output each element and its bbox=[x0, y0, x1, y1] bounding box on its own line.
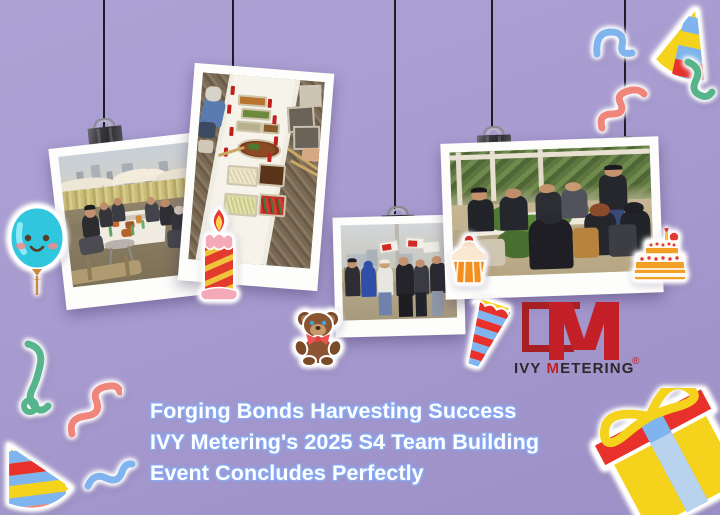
streamer-blue-top bbox=[591, 22, 641, 64]
birthday-cake-sticker bbox=[627, 228, 693, 290]
candle-sticker bbox=[196, 206, 242, 304]
teddy-bear-sticker bbox=[293, 306, 343, 366]
party-popper-sticker bbox=[452, 300, 510, 370]
hanging-string bbox=[491, 0, 493, 128]
hanging-string bbox=[394, 0, 396, 214]
party-hat-bottom bbox=[0, 438, 76, 515]
logo-wordmark: IVY METERING bbox=[514, 360, 634, 377]
title-line-1: Forging Bonds Harvesting Success bbox=[150, 396, 610, 427]
logo-m-mark bbox=[549, 302, 619, 360]
logo-word-m: M bbox=[546, 360, 560, 377]
logo-word-etering: ETERING bbox=[560, 360, 634, 377]
logo-word-ivy: IVY bbox=[514, 360, 546, 377]
streamer-coral-left bbox=[64, 368, 122, 440]
registered-trademark-icon: ® bbox=[632, 356, 639, 367]
cupcake-sticker bbox=[446, 233, 492, 285]
poster-title: Forging Bonds Harvesting Success IVY Met… bbox=[150, 396, 610, 489]
hanging-string bbox=[103, 0, 105, 128]
streamer-coral-top bbox=[596, 82, 648, 134]
streamer-green-left bbox=[14, 340, 58, 426]
streamer-green-right bbox=[678, 58, 718, 108]
balloon-sticker bbox=[6, 205, 68, 297]
title-line-3: Event Concludes Perfectly bbox=[150, 458, 610, 489]
poster-canvas: IVY METERING ® Forging Bonds Harvesting … bbox=[0, 0, 720, 515]
title-line-2: IVY Metering's 2025 S4 Team Building bbox=[150, 427, 610, 458]
company-logo: IVY METERING ® bbox=[512, 298, 652, 390]
photo-group-flags bbox=[341, 223, 457, 321]
streamer-blue-left bbox=[84, 452, 136, 494]
gift-box-sticker bbox=[592, 388, 720, 515]
